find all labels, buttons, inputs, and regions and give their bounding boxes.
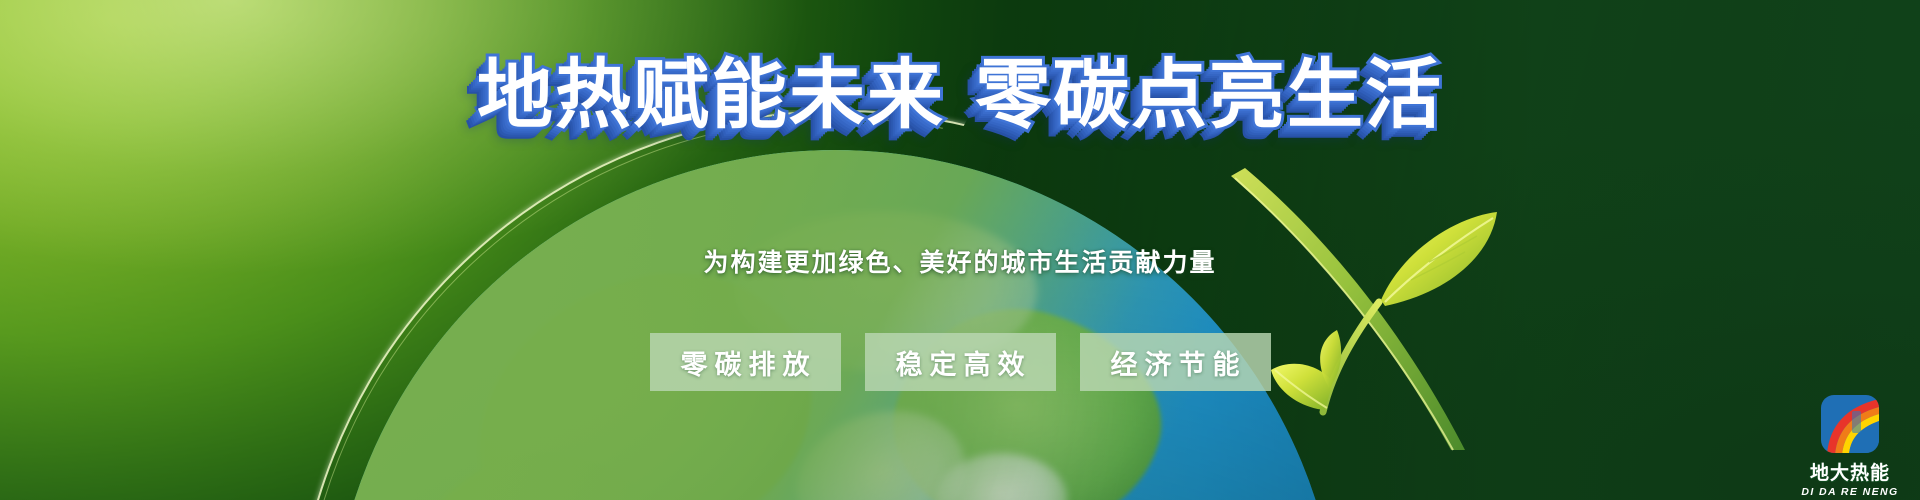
feature-tag-economical-energy-saving[interactable]: 经济节能 [1080, 333, 1271, 391]
didareneng-logo-icon [1819, 393, 1881, 455]
green-sprout-image [1215, 120, 1545, 500]
feature-tag-zero-carbon[interactable]: 零碳排放 [650, 333, 841, 391]
logo-english-name: DI DA RE NENG [1801, 486, 1898, 498]
feature-tag-stable-efficient[interactable]: 稳定高效 [865, 333, 1056, 391]
feature-tag-row: 零碳排放 稳定高效 经济节能 [0, 333, 1920, 391]
page-subtitle: 为构建更加绿色、美好的城市生活贡献力量 [0, 243, 1920, 279]
logo-chinese-name: 地大热能 [1810, 458, 1890, 485]
brand-logo[interactable]: 地大热能 DI DA RE NENG [1798, 393, 1902, 498]
hero-banner: 地热赋能未来零碳点亮生活 为构建更加绿色、美好的城市生活贡献力量 零碳排放 稳定… [0, 0, 1920, 500]
